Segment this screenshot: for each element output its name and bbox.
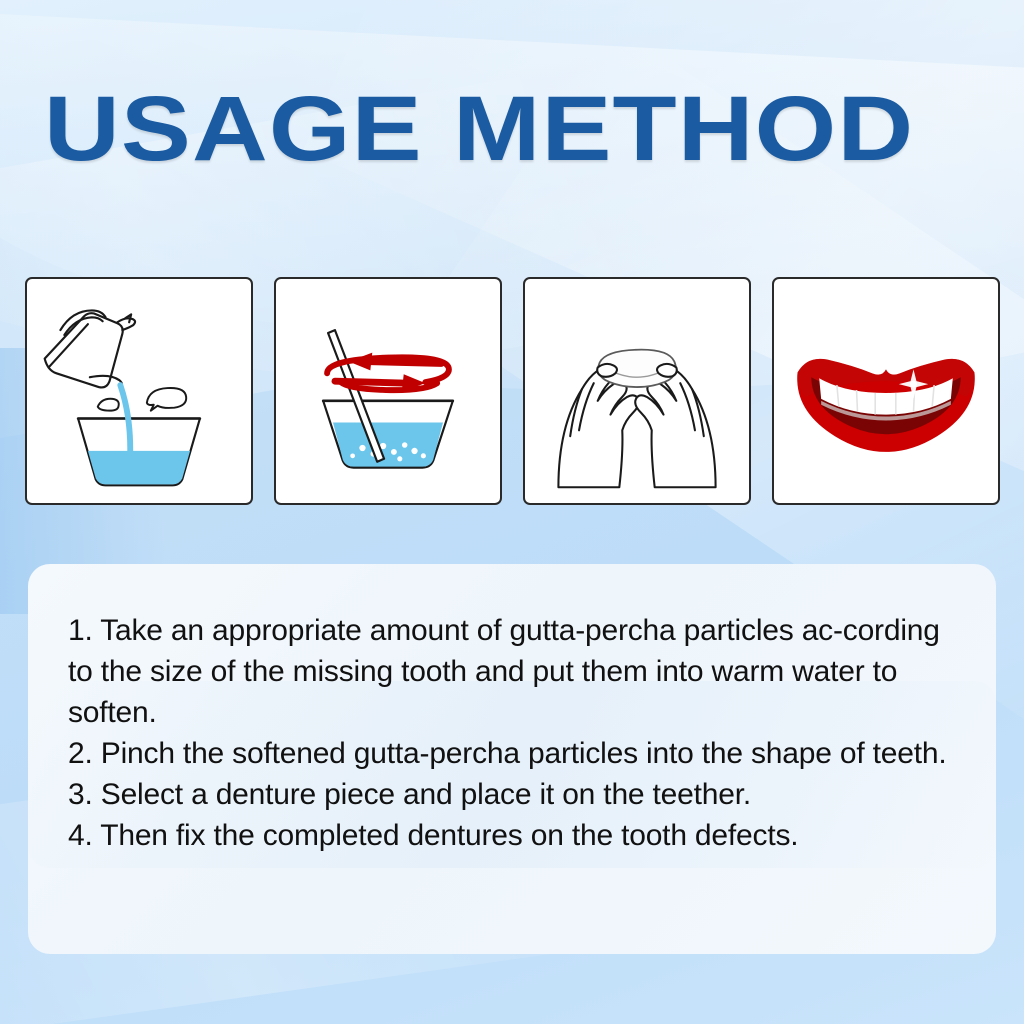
instruction-step-2: 2. Pinch the softened gutta-percha parti… [68,733,952,774]
hands-shaping-icon [525,279,749,503]
bowl-water [333,422,443,466]
instruction-step-1: 1. Take an appropriate amount of gutta-p… [68,610,952,733]
pour-water-icon [27,279,251,503]
panel-pour-hot-water-into-bowl [25,277,253,505]
instruction-step-3: 3. Select a denture piece and place it o… [68,774,952,815]
panel-stir-particles-in-water [274,277,502,505]
instruction-step-4: 4. Then fix the completed dentures on th… [68,815,952,856]
panel-shape-denture-with-hands [523,277,751,505]
bowl-water [88,451,190,484]
instructions-card: 1. Take an appropriate amount of gutta-p… [28,564,996,954]
step-illustrations-row [25,277,1000,505]
stir-water-icon [276,279,500,503]
page-title: USAGE METHOD [44,86,1024,172]
instruction-steps-list: 1. Take an appropriate amount of gutta-p… [68,610,952,856]
panel-smiling-mouth-result [772,277,1000,505]
smiling-mouth-icon [774,279,998,503]
